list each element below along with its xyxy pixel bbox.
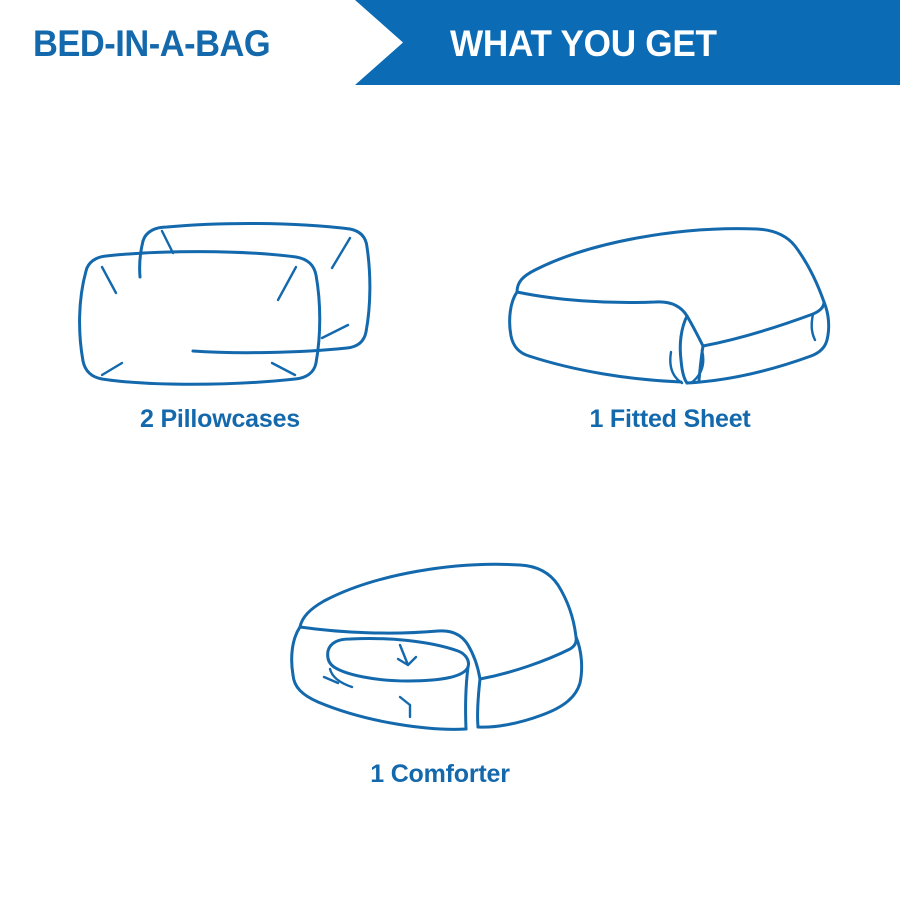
front-pillow-crease-top-left xyxy=(102,267,116,293)
comforter-bottom-front-edge xyxy=(478,679,480,727)
fitted-sheet-on-mattress-icon xyxy=(495,220,845,400)
back-pillow-outline xyxy=(143,223,370,352)
back-pillow-crease-bottom-right xyxy=(322,325,348,338)
comforter-top-right-seam xyxy=(480,637,576,679)
product-item-fitted-sheet: 1 Fitted Sheet xyxy=(490,195,850,445)
product-item-pillowcases: 2 Pillowcases xyxy=(50,195,390,445)
two-stacked-pillows-icon xyxy=(60,205,380,405)
header-title-right: WHAT YOU GET xyxy=(450,22,830,66)
sheet-top-right-seam xyxy=(703,302,824,346)
front-pillow-outline xyxy=(80,252,320,385)
header-title-left: BED-IN-A-BAG xyxy=(33,22,331,66)
product-item-comforter: 1 Comforter xyxy=(270,545,610,800)
sheet-left-side xyxy=(510,292,529,356)
folded-comforter-icon xyxy=(280,555,600,755)
sheet-front-bottom-left xyxy=(529,356,681,382)
product-label-pillowcases: 2 Pillowcases xyxy=(50,405,390,434)
bed-in-a-bag-infographic: BED-IN-A-BAG WHAT YOU GET 2 Pillowcases xyxy=(0,0,900,900)
comforter-bottom-front-fold xyxy=(466,667,468,729)
comforter-crease-mark-top xyxy=(398,645,416,665)
header-banner: BED-IN-A-BAG WHAT YOU GET xyxy=(0,0,900,85)
back-pillow-crease-top-left xyxy=(162,231,173,253)
sheet-right-corner-crease xyxy=(812,314,815,340)
comforter-crease-mark-bottom xyxy=(400,697,410,717)
back-pillow-left-edge xyxy=(140,241,143,277)
comforter-top-left-side xyxy=(292,627,300,675)
sheet-front-bottom-right xyxy=(687,356,811,383)
comforter-bottom-left-edge xyxy=(293,675,466,729)
sheet-top-back-edge xyxy=(517,229,824,302)
front-pillow-crease-bottom-left xyxy=(102,363,122,375)
product-label-comforter: 1 Comforter xyxy=(270,760,610,789)
sheet-top-left-seam xyxy=(517,292,703,346)
comforter-top-back-edge xyxy=(300,564,576,637)
front-pillow-crease-bottom-right xyxy=(272,363,295,375)
front-pillow-crease-top-right xyxy=(278,267,296,300)
back-pillow-crease-top-right xyxy=(332,238,350,268)
sheet-front-corner-fold xyxy=(680,316,687,383)
product-label-fitted-sheet: 1 Fitted Sheet xyxy=(490,405,850,434)
